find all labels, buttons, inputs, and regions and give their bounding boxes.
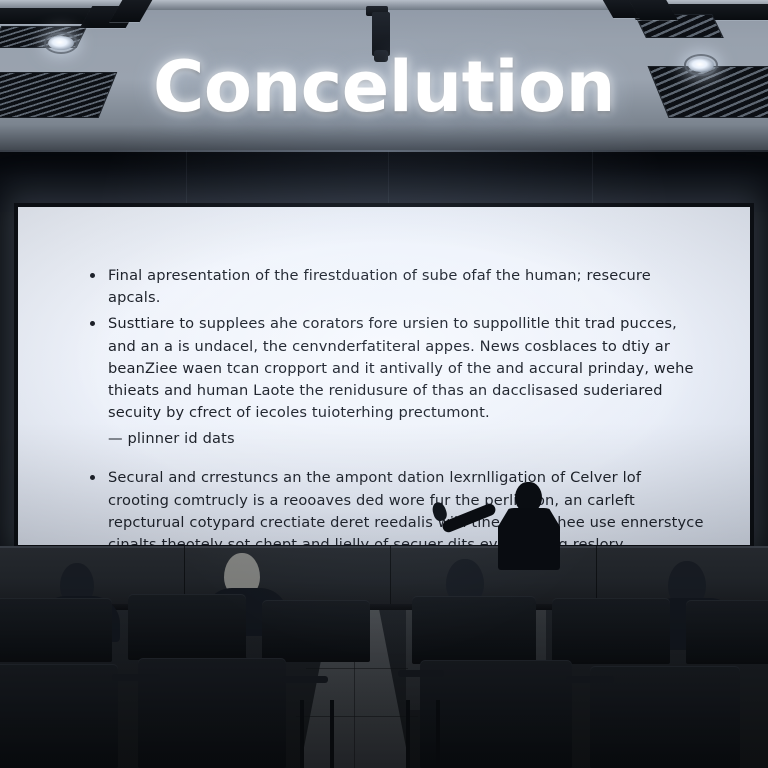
audience-chair-arm-4 (566, 676, 614, 683)
audience-chair-leg-1 (300, 700, 304, 768)
presentation-scene: Concelution Final apresentation of the f… (0, 0, 768, 768)
presenter-body (498, 508, 560, 570)
audience-chair-b6 (686, 600, 768, 664)
page-title: Concelution (0, 52, 768, 122)
audience-chair-arm-3 (398, 670, 444, 677)
audience-chair-arm-2 (282, 676, 328, 683)
audience-chair-b5 (552, 598, 670, 664)
audience-chair-leg-3 (406, 700, 410, 768)
audience-chair-arm-1 (112, 674, 160, 681)
audience-chair-b2 (128, 594, 246, 660)
audience-chair-leg-2 (330, 700, 334, 768)
audience-chair-f2 (138, 658, 286, 768)
presenter-silhouette (493, 482, 565, 568)
audience-chair-f1 (0, 664, 118, 768)
audience-chair-b3 (262, 600, 370, 662)
audience-chair-leg-4 (436, 700, 440, 768)
audience-chair-b4 (412, 596, 536, 664)
presenter-head (515, 482, 542, 512)
audience-chair-b1 (0, 598, 112, 662)
